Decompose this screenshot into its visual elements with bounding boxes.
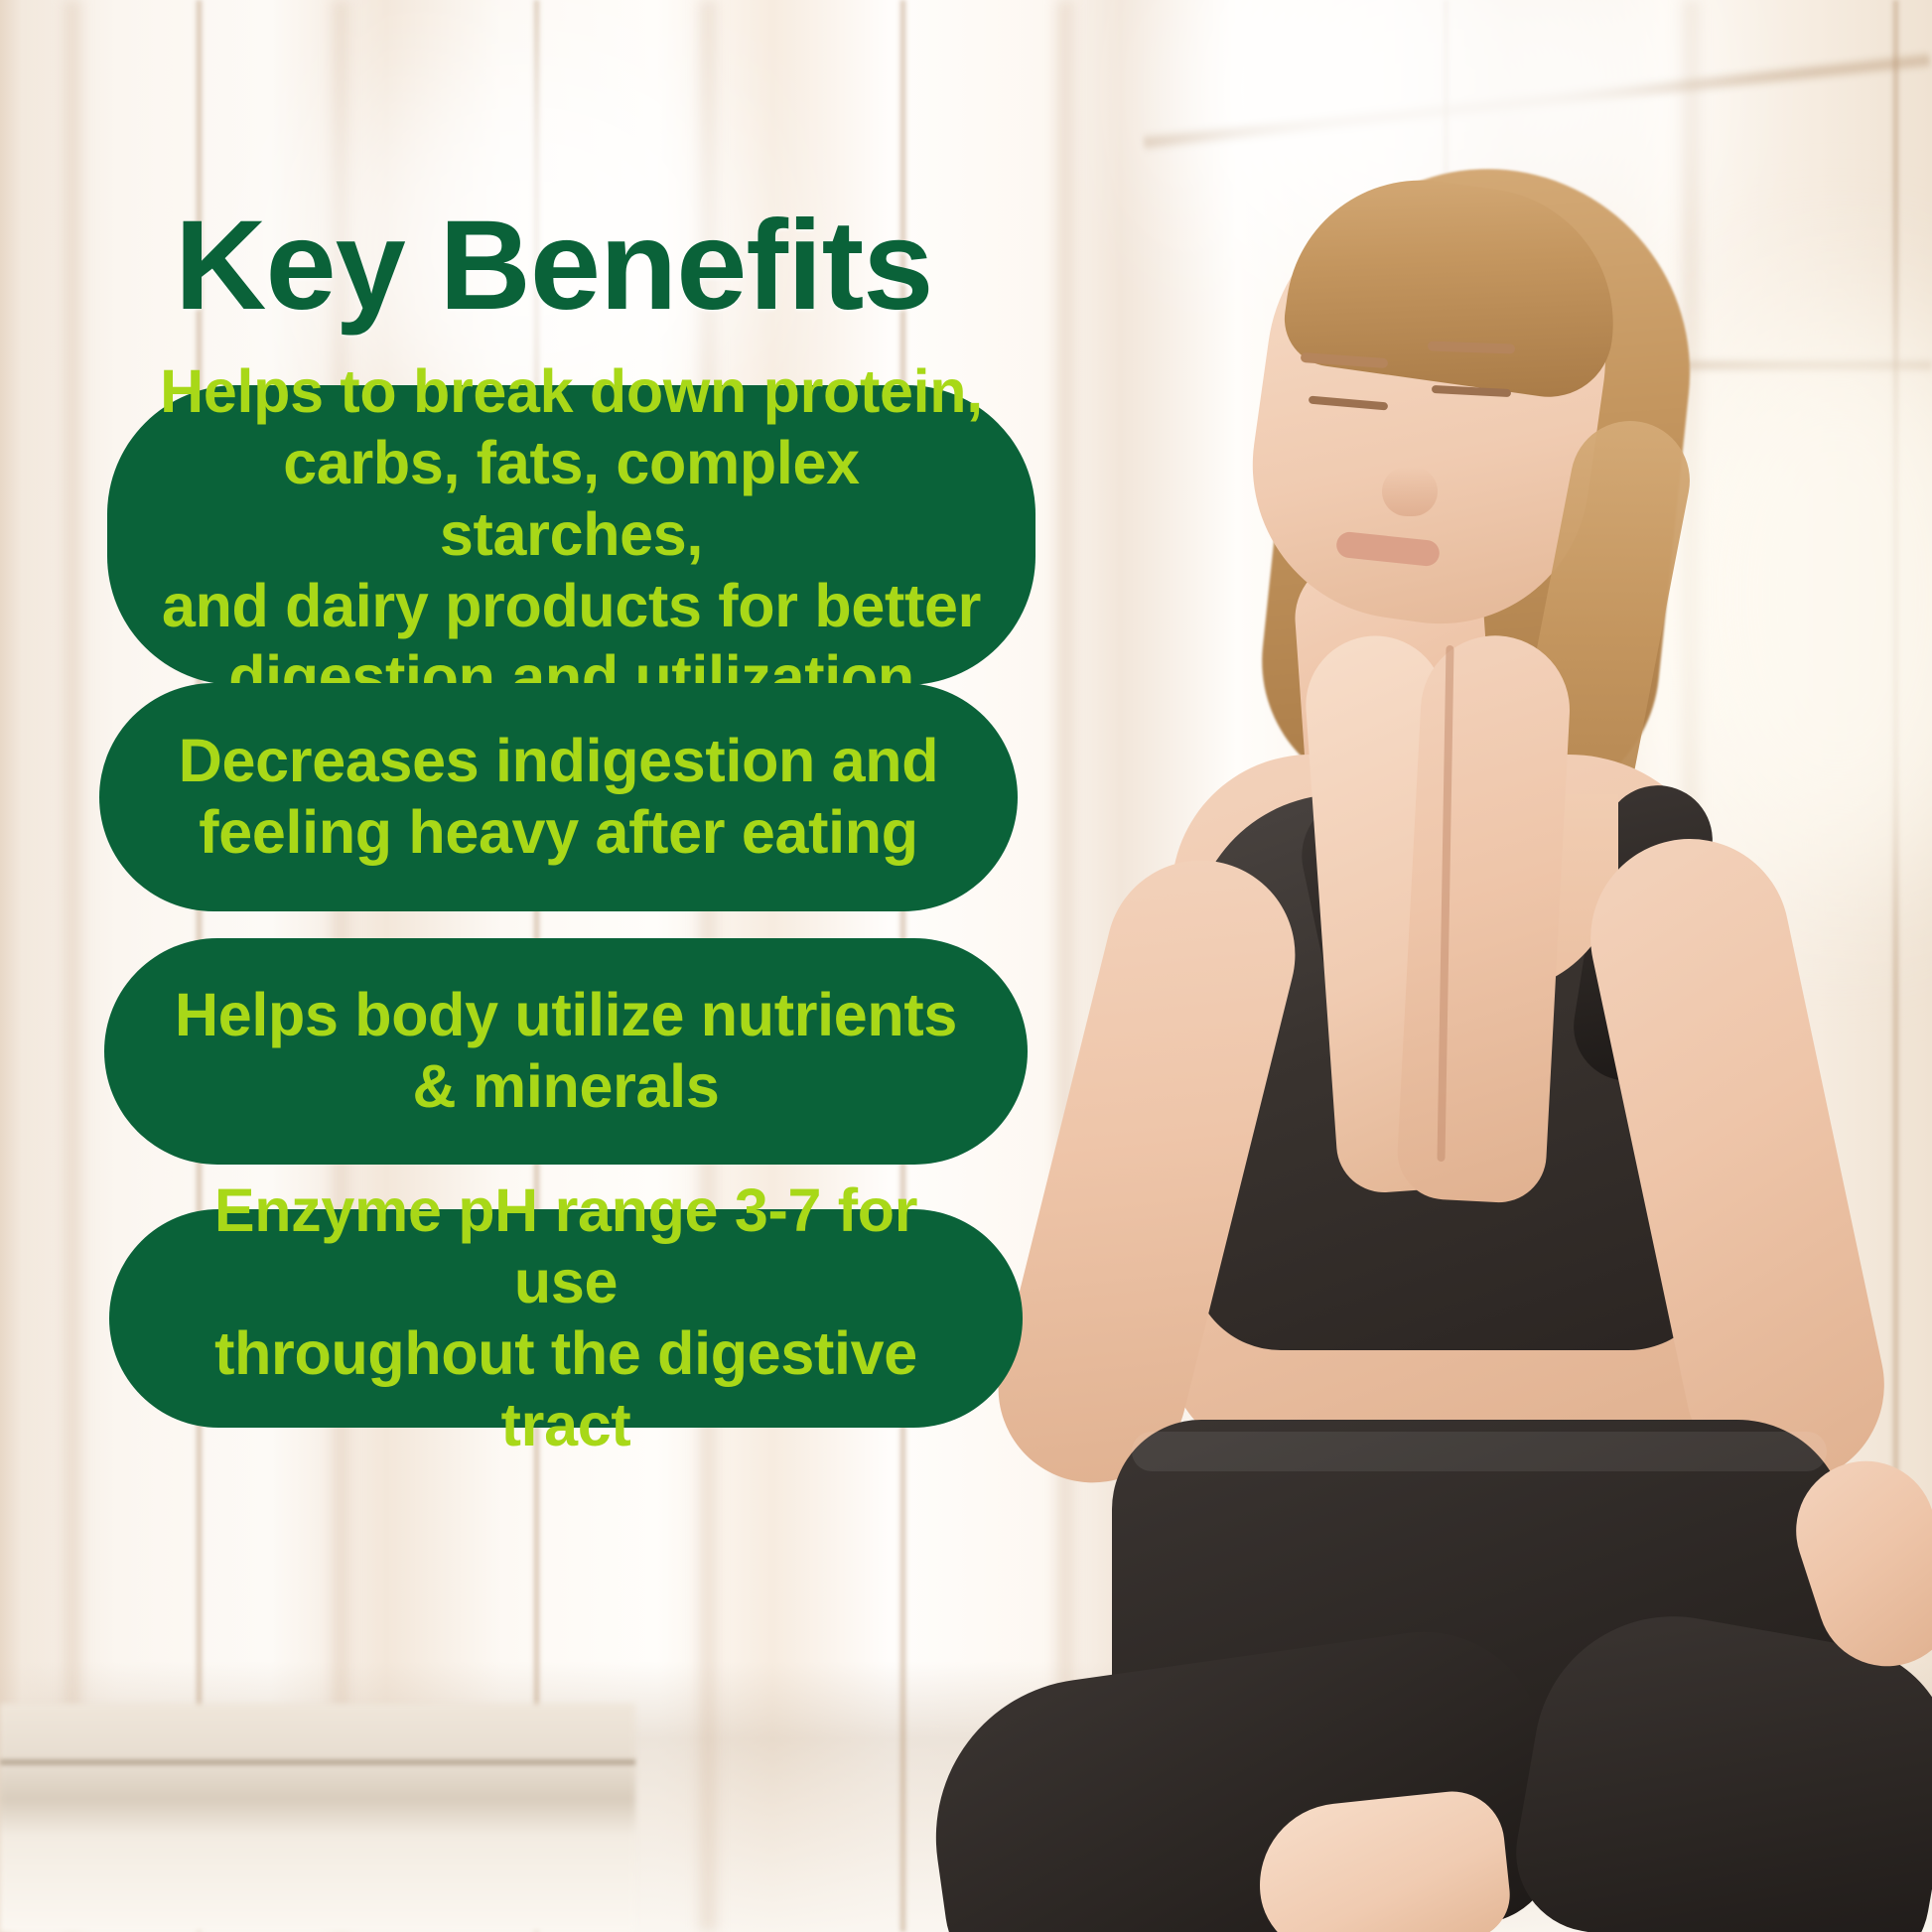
- waistband: [1132, 1432, 1827, 1471]
- page-title: Key Benefits: [175, 203, 932, 330]
- window-mullion-icon: [60, 0, 85, 1932]
- window-sill: [0, 1704, 635, 1932]
- benefit-pill: Decreases indigestion and feeling heavy …: [99, 683, 1018, 911]
- benefit-text: Helps body utilize nutrients & minerals: [175, 980, 957, 1123]
- benefit-pill: Helps body utilize nutrients & minerals: [104, 938, 1028, 1165]
- benefit-text: Enzyme pH range 3-7 for use throughout t…: [155, 1175, 977, 1461]
- benefit-pill: Enzyme pH range 3-7 for use throughout t…: [109, 1209, 1023, 1428]
- benefit-text: Decreases indigestion and feeling heavy …: [179, 726, 938, 869]
- nose: [1382, 467, 1438, 516]
- window-mullion-icon: [1052, 0, 1078, 1932]
- window-sill-edge: [0, 1759, 635, 1765]
- infographic-canvas: Key Benefits Helps to break down protein…: [0, 0, 1932, 1932]
- benefit-text: Helps to break down protein, carbs, fats…: [153, 356, 990, 714]
- hand-right: [1395, 631, 1574, 1204]
- benefit-pill: Helps to break down protein, carbs, fats…: [107, 385, 1035, 685]
